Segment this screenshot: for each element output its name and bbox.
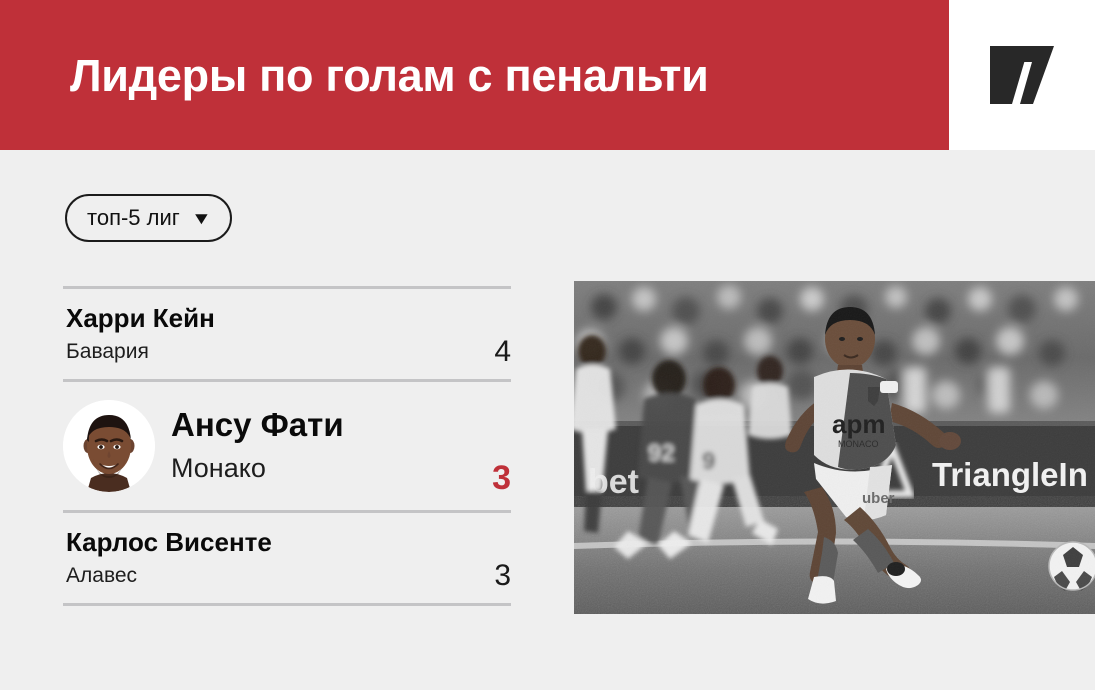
leader-info: Карлос Висенте Алавес	[66, 528, 494, 588]
goal-count: 4	[494, 335, 511, 379]
club-name: Монако	[171, 452, 492, 484]
table-row[interactable]: Харри Кейн Бавария 4	[63, 289, 511, 379]
table-row[interactable]: Ансу Фати Монако 3	[63, 382, 511, 510]
avatar	[63, 400, 155, 492]
publisher-logo-icon	[988, 44, 1056, 106]
logo-panel	[949, 0, 1095, 150]
page-header: Лидеры по голам с пенальти	[0, 0, 1095, 150]
club-name: Алавес	[66, 563, 494, 588]
page-title: Лидеры по голам с пенальти	[70, 53, 708, 98]
player-name: Ансу Фати	[171, 407, 492, 444]
list-divider	[63, 603, 511, 606]
player-name: Харри Кейн	[66, 304, 494, 333]
leader-info: Ансу Фати Монако	[171, 407, 492, 484]
goal-count: 3	[494, 559, 511, 603]
leader-info: Харри Кейн Бавария	[66, 304, 494, 364]
penalty-kick-photo: TriangleIn bet 92	[574, 281, 1095, 614]
leaders-list: Харри Кейн Бавария 4	[63, 286, 511, 606]
club-name: Бавария	[66, 339, 494, 364]
player-name: Карлос Висенте	[66, 528, 494, 557]
league-filter-label: топ-5 лиг	[87, 207, 180, 229]
header-red-band: Лидеры по голам с пенальти	[0, 0, 949, 150]
goal-count: 3	[492, 459, 511, 510]
table-row[interactable]: Карлос Висенте Алавес 3	[63, 513, 511, 603]
chevron-down-icon: ▼	[191, 210, 212, 227]
league-filter-dropdown[interactable]: топ-5 лиг ▼	[65, 194, 232, 242]
content-area: топ-5 лиг ▼ Харри Кейн Бавария 4	[0, 150, 1095, 690]
